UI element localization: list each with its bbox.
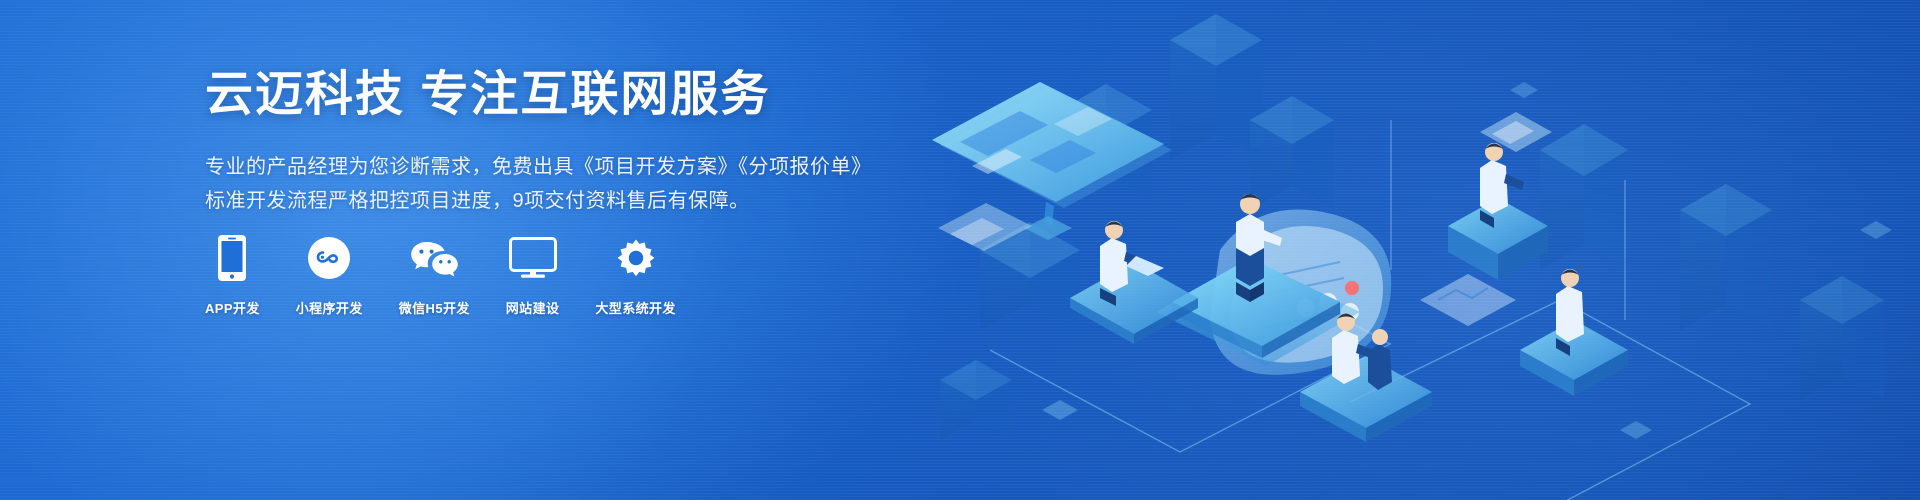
subtitle-line-2: 标准开发流程严格把控项目进度，9项交付资料售后有保障。: [205, 184, 965, 218]
mobile-phone-icon: [217, 232, 247, 284]
gear-icon: [613, 232, 659, 284]
service-label: 小程序开发: [296, 298, 363, 317]
service-label: APP开发: [205, 298, 260, 317]
page-title: 云迈科技 专注互联网服务: [205, 66, 965, 124]
service-list: APP开发 小程序开发: [205, 232, 676, 317]
service-item-system[interactable]: 大型系统开发: [595, 232, 675, 317]
service-item-app[interactable]: APP开发: [205, 232, 260, 317]
wechat-icon: [408, 232, 460, 284]
isometric-team-dashboard-illustration: [920, 0, 1920, 500]
hero-copy: 云迈科技 专注互联网服务 专业的产品经理为您诊断需求，免费出具《项目开发方案》《…: [205, 66, 965, 218]
service-item-website[interactable]: 网站建设: [506, 232, 560, 317]
monitor-icon: [509, 232, 557, 284]
subtitle-line-1: 专业的产品经理为您诊断需求，免费出具《项目开发方案》《分项报价单》: [205, 150, 965, 184]
service-label: 网站建设: [506, 298, 560, 317]
service-label: 大型系统开发: [595, 298, 675, 317]
mini-program-icon: [307, 232, 351, 284]
service-item-miniprogram[interactable]: 小程序开发: [296, 232, 363, 317]
hero-banner: 云迈科技 专注互联网服务 专业的产品经理为您诊断需求，免费出具《项目开发方案》《…: [0, 0, 1920, 500]
service-label: 微信H5开发: [399, 298, 470, 317]
service-item-wechat[interactable]: 微信H5开发: [399, 232, 470, 317]
